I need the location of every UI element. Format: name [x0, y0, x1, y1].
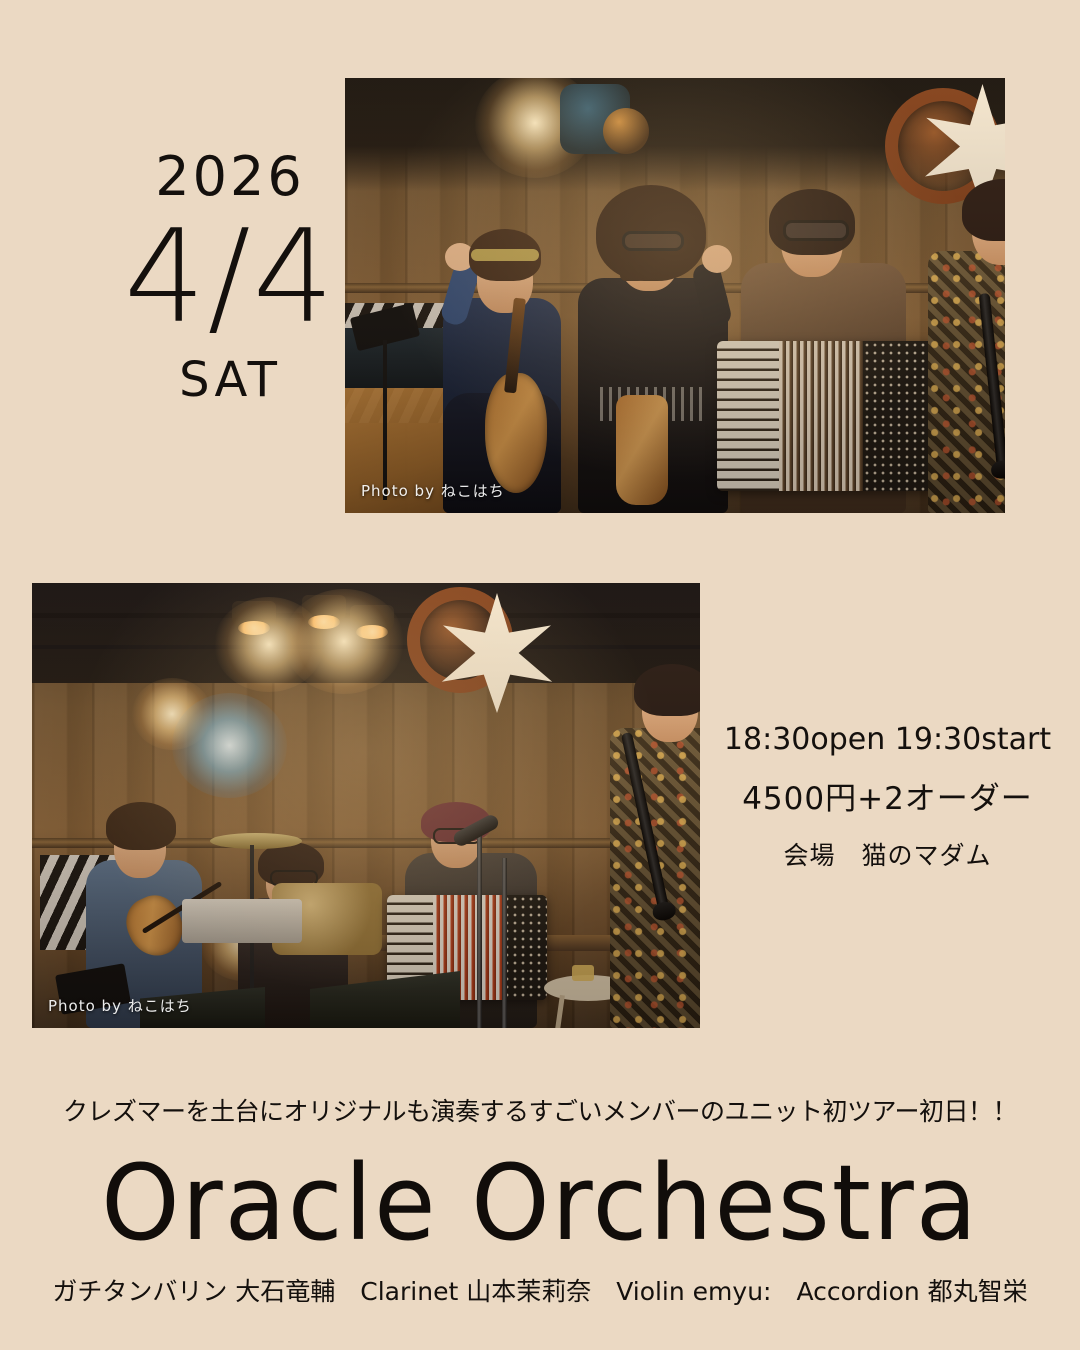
event-tagline: クレズマーを土台にオリジナルも演奏するすごいメンバーのユニット初ツアー初日！！: [0, 1092, 1080, 1128]
accordion: [717, 341, 935, 491]
beard: [620, 265, 644, 281]
event-price: 4500円+2オーダー: [715, 773, 1060, 818]
person-clarinetist: [602, 628, 700, 1028]
violinist-headband: [471, 249, 539, 261]
photo-bottom-scene: Photo by ねこはち: [32, 583, 700, 1028]
photo-top-credit: Photo by ねこはち: [361, 480, 505, 501]
stage-spotlight: [232, 601, 276, 631]
stage-spotlight: [302, 595, 346, 625]
drink-glass: [572, 965, 594, 981]
date-year: 2026: [95, 150, 365, 204]
violinist-hair: [106, 802, 176, 850]
accordion-bellows: [779, 341, 863, 491]
accordion-buttons: [503, 895, 547, 1000]
photo-top-scene: Photo by ねこはち: [345, 78, 1005, 513]
microphone-stand: [502, 858, 507, 1028]
tambourine: [616, 395, 668, 505]
band-name: Oracle Orchestra: [22, 1142, 1059, 1264]
person-accordionist: [717, 163, 942, 513]
microphone-stand: [477, 828, 482, 1028]
photo-band-group: Photo by ねこはち: [345, 78, 1005, 513]
photo-bottom-credit: Photo by ねこはち: [48, 995, 192, 1016]
date-block: 2026 4/4 SAT: [95, 150, 365, 404]
date-weekday: SAT: [95, 356, 365, 404]
stage-spotlight: [350, 605, 394, 635]
event-venue: 会場 猫のマダム: [715, 836, 1060, 872]
accordionist-glasses: [783, 220, 849, 241]
person-clarinetist: [910, 153, 1005, 513]
date-day: 4/4: [95, 214, 365, 342]
band-members: ガチタンバリン 大石竜輔 Clarinet 山本茉莉奈 Violin emyu:…: [0, 1272, 1080, 1308]
eyeglasses: [622, 231, 684, 251]
concert-flyer: 2026 4/4 SAT: [0, 0, 1080, 1350]
clarinetist-hair: [962, 179, 1005, 241]
ceiling-cable: [32, 645, 700, 649]
hanging-decor-ball: [603, 108, 649, 154]
event-times: 18:30open 19:30start: [715, 722, 1060, 757]
keyboard: [182, 899, 302, 943]
music-stand-pole: [383, 340, 387, 500]
photo-live-performance: Photo by ねこはち: [32, 583, 700, 1028]
clarinetist-hair: [634, 664, 700, 716]
accordion-keyboard: [717, 341, 779, 491]
cymbal: [210, 833, 302, 849]
event-info-block: 18:30open 19:30start 4500円+2オーダー 会場 猫のマダ…: [715, 722, 1060, 872]
